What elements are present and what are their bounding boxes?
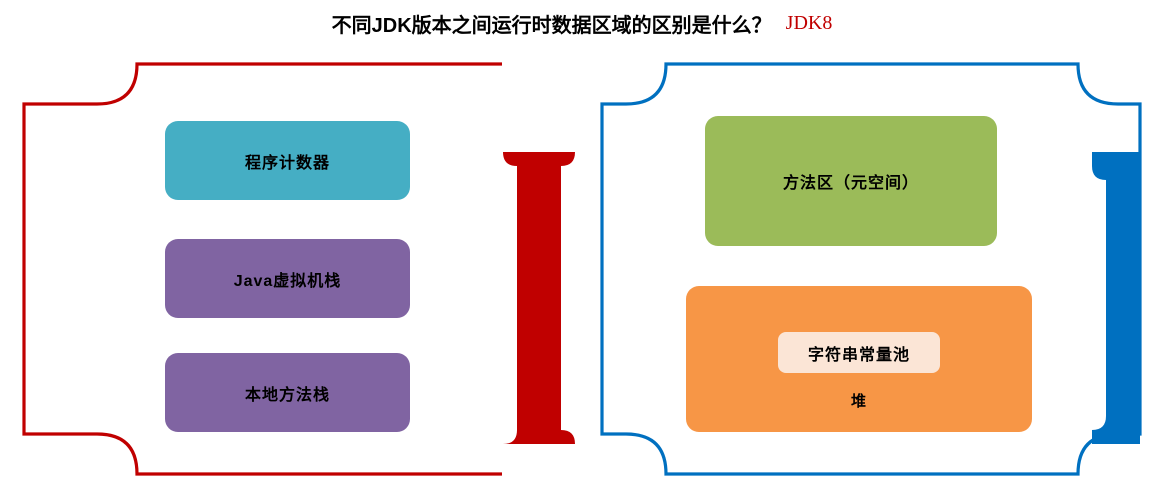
jdk-version-tag: JDK8 — [786, 12, 833, 35]
region-program-counter-label: 程序计数器 — [245, 149, 330, 173]
region-string-constant-pool-label: 字符串常量池 — [808, 341, 910, 365]
region-native-method-stack-label: 本地方法栈 — [245, 381, 330, 405]
region-method-area[interactable]: 方法区（元空间） — [705, 116, 997, 246]
region-jvm-stack-label: Java虚拟机栈 — [234, 267, 342, 291]
region-heap-label: 堆 — [686, 390, 1032, 411]
region-native-method-stack[interactable]: 本地方法栈 — [165, 353, 410, 432]
diagram-title-bar: 不同JDK版本之间运行时数据区域的区别是什么？ JDK8 — [0, 0, 1164, 46]
region-jvm-stack[interactable]: Java虚拟机栈 — [165, 239, 410, 318]
region-heap[interactable]: 字符串常量池 堆 — [686, 286, 1032, 432]
band-label-thread-private: 线程不共享 — [560, 248, 582, 388]
region-method-area-label: 方法区（元空间） — [783, 169, 919, 193]
region-string-constant-pool[interactable]: 字符串常量池 — [778, 332, 940, 373]
region-program-counter[interactable]: 程序计数器 — [165, 121, 410, 200]
page-title: 不同JDK版本之间运行时数据区域的区别是什么？ — [332, 9, 772, 38]
